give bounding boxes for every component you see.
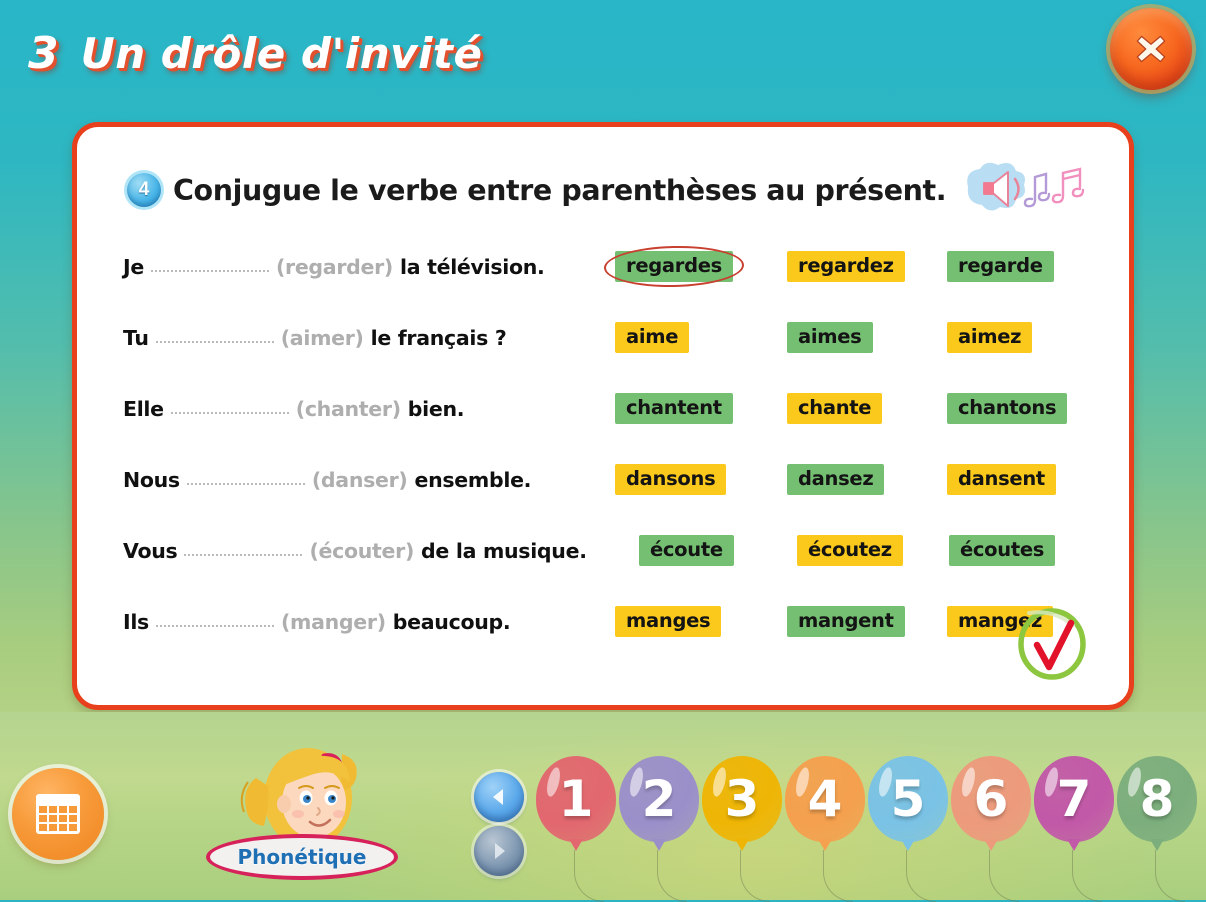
answer-choice[interactable]: chantons bbox=[947, 393, 1067, 424]
answer-blank[interactable] bbox=[156, 333, 274, 343]
exercise-rows: Je(regarder)la télévision.regardesregard… bbox=[77, 231, 1129, 657]
close-button[interactable] bbox=[1110, 8, 1192, 90]
answer-choice[interactable]: aime bbox=[615, 322, 689, 353]
verb-infinitive: (aimer) bbox=[281, 326, 364, 350]
exercise-row: Vous(écouter)de la musique.écouteécoutez… bbox=[77, 515, 1129, 586]
previous-button[interactable] bbox=[474, 772, 524, 822]
answer-choice[interactable]: chantent bbox=[615, 393, 733, 424]
next-button[interactable] bbox=[474, 826, 524, 876]
sentence-tail: la télévision. bbox=[400, 255, 545, 279]
balloon-page-7[interactable]: 7 bbox=[1034, 756, 1114, 848]
exercise-card: 4 Conjugue le verbe entre parenthèses au… bbox=[72, 122, 1134, 710]
answer-blank[interactable] bbox=[156, 617, 274, 627]
page-balloons: 12345678 bbox=[536, 756, 1197, 848]
balloon-number: 2 bbox=[642, 774, 677, 824]
sentence-subject: Je bbox=[123, 255, 144, 279]
exercise-row: Elle(chanter)bien.chantentchantechantons bbox=[77, 373, 1129, 444]
verb-infinitive: (regarder) bbox=[276, 255, 393, 279]
speaker-music-icon[interactable] bbox=[960, 161, 1092, 219]
answer-blank[interactable] bbox=[171, 404, 289, 414]
answer-choice[interactable]: regardes bbox=[615, 251, 733, 282]
phonetique-label: Phonétique bbox=[238, 845, 367, 869]
lesson-number: 3 bbox=[28, 28, 59, 79]
exercise-sentence: Vous(écouter)de la musique. bbox=[123, 539, 587, 563]
menu-button[interactable] bbox=[12, 768, 104, 860]
sentence-subject: Ils bbox=[123, 610, 149, 634]
balloon-number: 7 bbox=[1057, 774, 1092, 824]
answer-choice[interactable]: aimez bbox=[947, 322, 1032, 353]
answer-choice[interactable]: dansez bbox=[787, 464, 884, 495]
answer-blank[interactable] bbox=[187, 475, 305, 485]
sentence-subject: Vous bbox=[123, 539, 177, 563]
sentence-tail: de la musique. bbox=[421, 539, 587, 563]
sentence-tail: le français ? bbox=[371, 326, 507, 350]
answer-choice[interactable]: aimes bbox=[787, 322, 873, 353]
sentence-subject: Nous bbox=[123, 468, 180, 492]
balloon-number: 8 bbox=[1140, 774, 1175, 824]
lesson-title: Un drôle d'invité bbox=[81, 29, 483, 78]
balloon-number: 1 bbox=[559, 774, 594, 824]
answer-choice[interactable]: regardez bbox=[787, 251, 905, 282]
answer-choice[interactable]: regarde bbox=[947, 251, 1054, 282]
balloon-number: 5 bbox=[891, 774, 926, 824]
balloon-page-4[interactable]: 4 bbox=[785, 756, 865, 848]
balloon-page-8[interactable]: 8 bbox=[1117, 756, 1197, 848]
exercise-row: Nous(danser)ensemble.dansonsdansezdansen… bbox=[77, 444, 1129, 515]
balloon-number: 6 bbox=[974, 774, 1009, 824]
triangle-left-icon bbox=[487, 785, 511, 809]
instruction-text: Conjugue le verbe entre parenthèses au p… bbox=[173, 174, 946, 207]
verb-infinitive: (écouter) bbox=[309, 539, 414, 563]
nav-arrows bbox=[474, 772, 526, 876]
balloon-page-1[interactable]: 1 bbox=[536, 756, 616, 848]
balloon-page-3[interactable]: 3 bbox=[702, 756, 782, 848]
exercise-sentence: Tu(aimer)le français ? bbox=[123, 326, 506, 350]
exercise-sentence: Ils(manger)beaucoup. bbox=[123, 610, 510, 634]
exercise-sentence: Je(regarder)la télévision. bbox=[123, 255, 545, 279]
page-title: 3 Un drôle d'invité bbox=[28, 28, 482, 79]
answer-choice[interactable]: écoute bbox=[639, 535, 734, 566]
instruction-row: 4 Conjugue le verbe entre parenthèses au… bbox=[127, 161, 1092, 219]
header: 3 Un drôle d'invité bbox=[0, 0, 1206, 122]
answer-choice[interactable]: dansent bbox=[947, 464, 1056, 495]
balloon-page-2[interactable]: 2 bbox=[619, 756, 699, 848]
answer-blank[interactable] bbox=[151, 262, 269, 272]
verb-infinitive: (danser) bbox=[312, 468, 408, 492]
sentence-tail: beaucoup. bbox=[393, 610, 511, 634]
sentence-subject: Elle bbox=[123, 397, 164, 421]
close-icon bbox=[1130, 28, 1172, 70]
answer-choice[interactable]: dansons bbox=[615, 464, 726, 495]
answer-blank[interactable] bbox=[184, 546, 302, 556]
sentence-tail: bien. bbox=[408, 397, 465, 421]
triangle-right-icon bbox=[487, 839, 511, 863]
answer-choice[interactable]: manges bbox=[615, 606, 721, 637]
validate-button[interactable] bbox=[1013, 605, 1091, 683]
exercise-row: Ils(manger)beaucoup.mangesmangentmangez bbox=[77, 586, 1129, 657]
verb-infinitive: (chanter) bbox=[296, 397, 401, 421]
verb-infinitive: (manger) bbox=[281, 610, 386, 634]
exercise-row: Je(regarder)la télévision.regardesregard… bbox=[77, 231, 1129, 302]
check-circle-icon bbox=[1013, 605, 1091, 683]
app-root: 3 Un drôle d'invité 4 Conjugue le verbe … bbox=[0, 0, 1206, 900]
sentence-subject: Tu bbox=[123, 326, 149, 350]
sentence-tail: ensemble. bbox=[415, 468, 532, 492]
balloon-number: 3 bbox=[725, 774, 760, 824]
answer-choice[interactable]: mangent bbox=[787, 606, 905, 637]
balloon-number: 4 bbox=[808, 774, 843, 824]
phonetique-button[interactable]: Phonétique bbox=[206, 834, 398, 880]
exercise-number-badge: 4 bbox=[127, 173, 161, 207]
exercise-sentence: Elle(chanter)bien. bbox=[123, 397, 464, 421]
exercise-row: Tu(aimer)le français ?aimeaimesaimez bbox=[77, 302, 1129, 373]
grid-menu-icon bbox=[36, 794, 80, 834]
balloon-page-6[interactable]: 6 bbox=[951, 756, 1031, 848]
answer-choice[interactable]: écoutes bbox=[949, 535, 1055, 566]
answer-choice[interactable]: chante bbox=[787, 393, 882, 424]
answer-choice[interactable]: écoutez bbox=[797, 535, 903, 566]
exercise-sentence: Nous(danser)ensemble. bbox=[123, 468, 531, 492]
balloon-page-5[interactable]: 5 bbox=[868, 756, 948, 848]
